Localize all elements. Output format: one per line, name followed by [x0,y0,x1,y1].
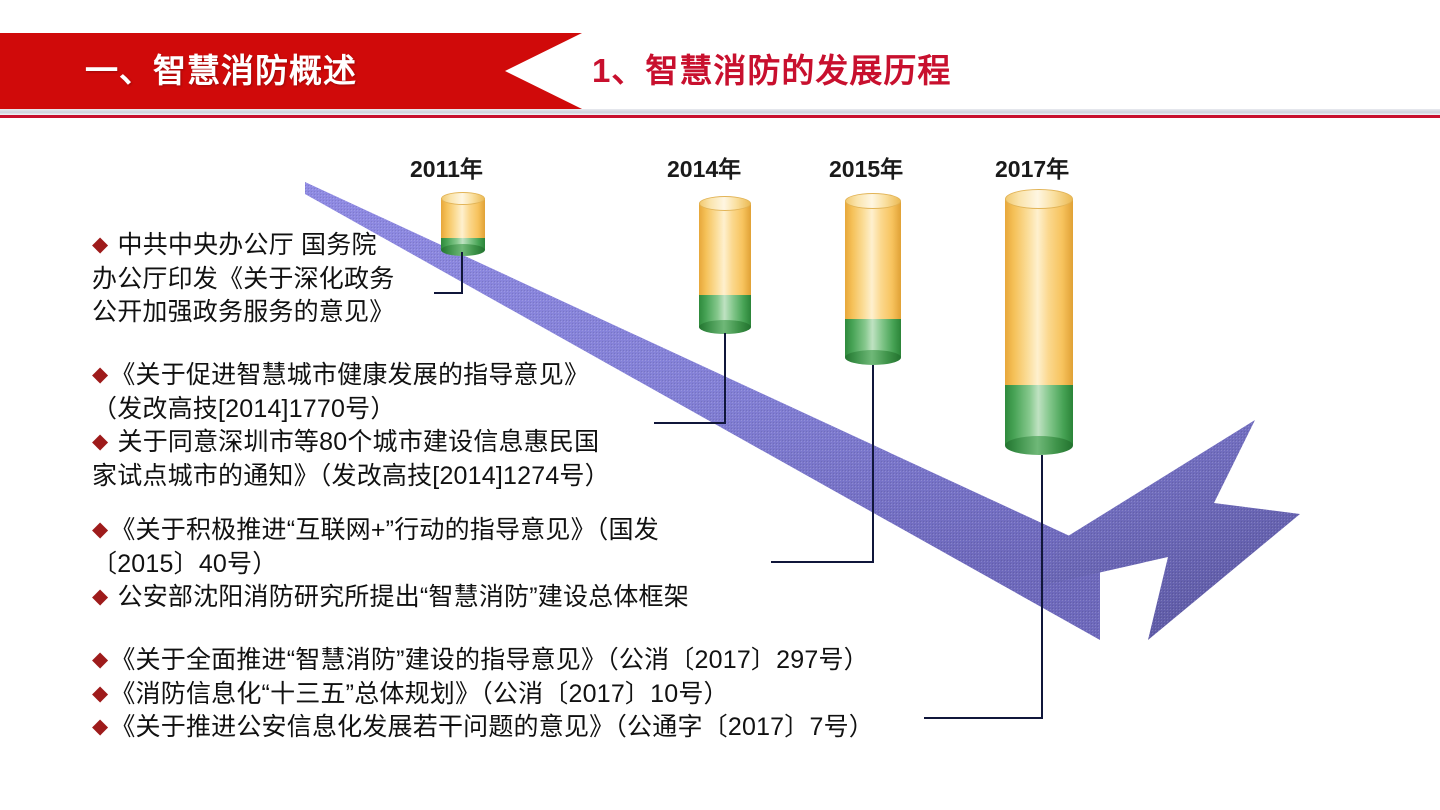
cylinder-2014 [699,196,751,333]
milestone-text-content: 《关于推进公安信息化发展若干问题的意见》（公通字〔2017〕7号） [110,713,874,741]
milestone-text-2015: ◆《关于积极推进“互联网+”行动的指导意见》（国发〔2015〕40号）◆ 公安部… [92,514,689,615]
leader-line-2015-vertical [872,365,874,563]
cylinder-2011-top-cap [441,192,485,205]
milestone-text-content: 公安部沈阳消防研究所提出“智慧消防”建设总体框架 [110,583,689,611]
year-label-2015: 2015年 [829,150,903,184]
milestone-text-2011: ◆ 中共中央办公厅 国务院办公厅印发《关于深化政务公开加强政务服务的意见》 [92,229,394,330]
milestone-text-2017: ◆《关于全面推进“智慧消防”建设的指导意见》（公消〔2017〕297号）◆《消防… [92,644,874,745]
cylinder-2017 [1005,189,1073,455]
year-label-2011: 2011年 [410,150,483,184]
diamond-bullet-icon: ◆ [92,363,108,386]
milestone-text-line: ◆《消防信息化“十三五”总体规划》（公消〔2017〕10号） [92,678,874,712]
diamond-bullet-icon: ◆ [92,233,108,256]
milestone-text-content: 《消防信息化“十三五”总体规划》（公消〔2017〕10号） [110,680,728,708]
leader-line-2017-vertical [1041,455,1043,719]
cylinder-2011-bottom-cap [441,244,485,256]
slide-header: 一、智慧消防概述 1、智慧消防的发展历程 [0,33,1440,109]
cylinder-2011 [441,192,485,252]
milestone-text-content: 办公厅印发《关于深化政务 [92,265,394,293]
milestone-text-line: ◆ 中共中央办公厅 国务院 [92,229,394,263]
milestone-text-content: 《关于积极推进“互联网+”行动的指导意见》（国发 [110,516,659,544]
leader-line-2015-horizontal [771,561,874,563]
milestone-text-line: ◆《关于促进智慧城市健康发展的指导意见》 [92,359,610,393]
milestone-text-line: 办公厅印发《关于深化政务 [92,263,394,297]
year-label-2014: 2014年 [667,150,741,184]
diamond-bullet-icon: ◆ [92,715,108,738]
cylinder-2015 [845,193,901,365]
cylinder-2015-orange-body [845,201,901,319]
milestone-text-line: ◆《关于推进公安信息化发展若干问题的意见》（公通字〔2017〕7号） [92,711,874,745]
cylinder-2014-bottom-cap [699,320,751,334]
milestone-text-line: ◆《关于积极推进“互联网+”行动的指导意见》（国发 [92,514,689,548]
cylinder-2015-bottom-cap [845,350,901,365]
leader-line-2017-horizontal [924,717,1043,719]
leader-line-2014-vertical [724,333,726,424]
diamond-bullet-icon: ◆ [92,648,108,671]
diamond-bullet-icon: ◆ [92,682,108,705]
year-label-2017: 2017年 [995,150,1069,184]
cylinder-2014-top-cap [699,196,751,211]
leader-line-2011-horizontal [434,292,463,294]
milestone-text-content: 家试点城市的通知》（发改高技[2014]1274号） [92,462,610,490]
milestone-text-content: 〔2015〕40号） [92,550,277,578]
cylinder-2014-orange-body [699,203,751,295]
milestone-text-content: 公开加强政务服务的意见》 [92,298,394,326]
section-title: 一、智慧消防概述 [85,33,357,109]
milestone-text-line: 〔2015〕40号） [92,548,689,582]
diamond-bullet-icon: ◆ [92,430,108,453]
leader-line-2011-vertical [461,252,463,294]
slide-canvas: 一、智慧消防概述 1、智慧消防的发展历程 [0,0,1440,810]
cylinder-2017-orange-body [1005,199,1073,385]
milestone-text-line: ◆《关于全面推进“智慧消防”建设的指导意见》（公消〔2017〕297号） [92,644,874,678]
cylinder-2017-top-cap [1005,189,1073,209]
milestone-text-line: 家试点城市的通知》（发改高技[2014]1274号） [92,460,610,494]
diamond-bullet-icon: ◆ [92,518,108,541]
milestone-text-content: 中共中央办公厅 国务院 [110,231,376,259]
milestone-text-line: （发改高技[2014]1770号） [92,393,610,427]
milestone-text-content: 《关于促进智慧城市健康发展的指导意见》 [110,361,589,389]
milestone-text-2014: ◆《关于促进智慧城市健康发展的指导意见》（发改高技[2014]1770号）◆ 关… [92,359,610,493]
milestone-text-line: ◆ 关于同意深圳市等80个城市建设信息惠民国 [92,426,610,460]
milestone-text-line: ◆ 公安部沈阳消防研究所提出“智慧消防”建设总体框架 [92,581,689,615]
header-underline-rule [0,115,1440,118]
milestone-text-content: （发改高技[2014]1770号） [92,395,396,423]
milestone-text-content: 《关于全面推进“智慧消防”建设的指导意见》（公消〔2017〕297号） [110,646,868,674]
milestone-text-line: 公开加强政务服务的意见》 [92,296,394,330]
diamond-bullet-icon: ◆ [92,585,108,608]
leader-line-2014-horizontal [654,422,726,424]
milestone-text-content: 关于同意深圳市等80个城市建设信息惠民国 [110,428,599,456]
cylinder-2015-top-cap [845,193,901,209]
subsection-title: 1、智慧消防的发展历程 [592,33,951,109]
cylinder-2017-bottom-cap [1005,436,1073,455]
